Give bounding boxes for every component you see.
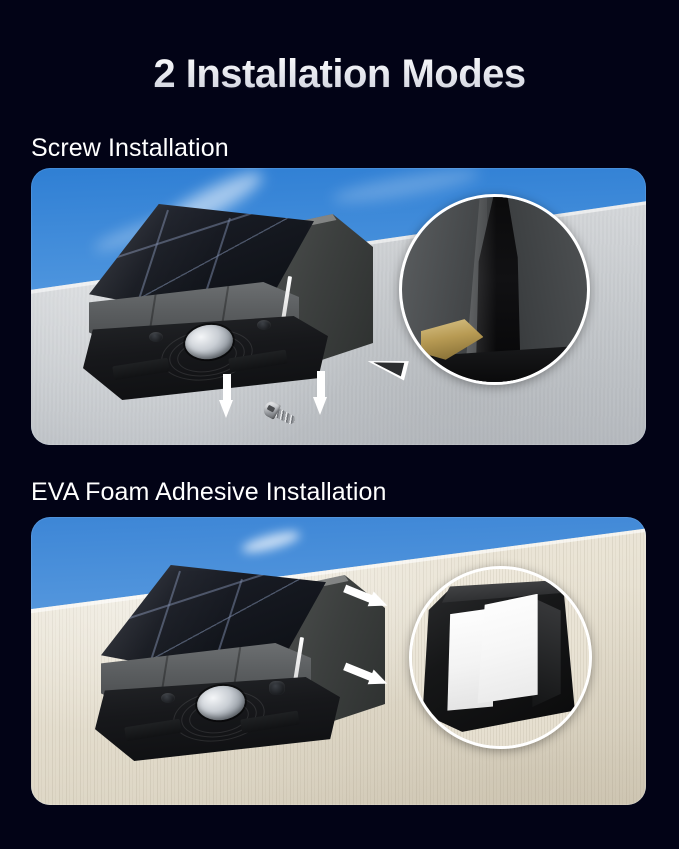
solar-light-fixture (81, 204, 366, 394)
screw-recess-left (149, 332, 163, 342)
scene-screw (31, 168, 646, 445)
button-recess-right (269, 681, 285, 695)
eva-foam-closeup-inset (409, 566, 592, 749)
infographic-page: 2 Installation Modes Screw Installation (0, 0, 679, 849)
photo-panel-screw-installation (31, 168, 646, 445)
screw-recess-left (161, 693, 175, 703)
mounting-arrow-left (219, 374, 234, 418)
section-label-eva-foam: EVA Foam Adhesive Installation (31, 478, 387, 507)
eva-foam-pad (477, 594, 537, 704)
screw-recess-right (257, 320, 271, 330)
screw-hole-closeup-inset (399, 194, 590, 385)
mounting-arrow-right (313, 371, 328, 415)
scene-eva (31, 517, 646, 805)
solar-light-fixture (93, 565, 383, 761)
section-label-screw: Screw Installation (31, 134, 229, 163)
page-title: 2 Installation Modes (0, 52, 679, 97)
photo-panel-eva-foam-installation (31, 517, 646, 805)
